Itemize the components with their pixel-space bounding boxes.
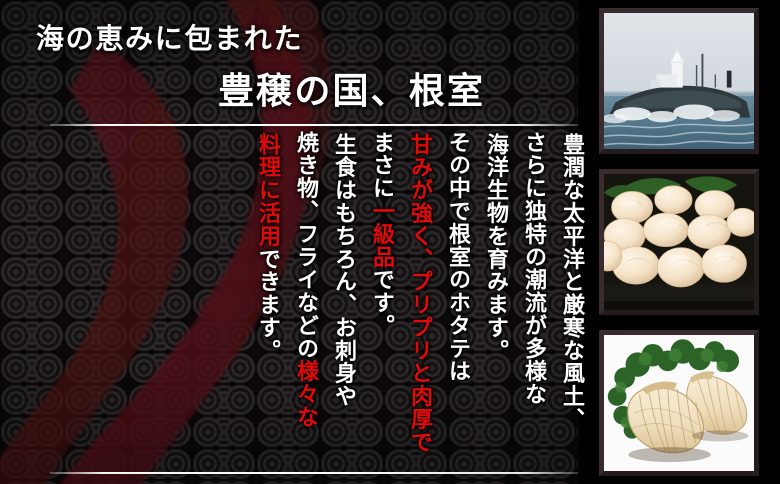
text-segment: 生食はもちろん、お刺身や [331,133,357,408]
text-segment: その中で根室のホタテは [445,131,471,383]
photo-strip [586,8,772,476]
body-text-column: 料理に活用できます。 [242,131,280,471]
photo-frame-lighthouse [599,8,759,154]
text-segment: 豊潤な太平洋と厳寒な風土、 [559,133,585,430]
scallop-shells-photo [604,335,754,471]
photo-frame-scallop-meat [599,169,759,315]
body-text-column: 豊潤な太平洋と厳寒な風土、 [546,131,584,471]
promo-banner: 海の恵みに包まれた 豊穣の国、根室 豊潤な太平洋と厳寒な風土、さらに独特の潮流が… [0,0,780,484]
body-text-column: その中で根室のホタテは [432,131,470,469]
text-segment: まさに [369,131,395,200]
accent-text-segment: 甘みが強く、プリプリと肉厚で [407,133,433,453]
scallop-meat-photo [604,174,754,310]
body-text-column: まさに一級品です。 [356,131,394,469]
body-text-column: さらに独特の潮流が多様な [508,131,546,469]
text-segment: さらに独特の潮流が多様な [521,131,547,406]
accent-text-segment: 一級品 [369,200,395,269]
text-segment: 海洋生物を育みます。 [483,133,509,362]
text-segment: です。 [369,268,395,337]
photo-frame-scallop-shells [599,330,759,476]
body-text-column: 焼き物、フライなどの様々な [280,131,318,469]
divider-rule-top [50,124,578,126]
body-text-column: 海洋生物を育みます。 [470,131,508,471]
text-segment: 焼き物、フライなどの [293,131,319,360]
accent-text-segment: 様々な [293,360,319,429]
lighthouse-cape-photo [604,13,754,149]
divider-rule-bottom [50,472,578,474]
body-text-column: 生食はもちろん、お刺身や [318,131,356,471]
body-text-columns: 豊潤な太平洋と厳寒な風土、さらに独特の潮流が多様な海洋生物を育みます。その中で根… [44,131,584,469]
headline-block: 海の恵みに包まれた 豊穣の国、根室 [0,0,580,122]
body-text-column: 甘みが強く、プリプリと肉厚で [394,131,432,471]
accent-text-segment: 料理に活用 [255,133,281,247]
headline-line-1: 海の恵みに包まれた [36,17,303,57]
text-segment: できます。 [255,247,281,361]
headline-line-2: 豊穣の国、根室 [218,62,485,114]
